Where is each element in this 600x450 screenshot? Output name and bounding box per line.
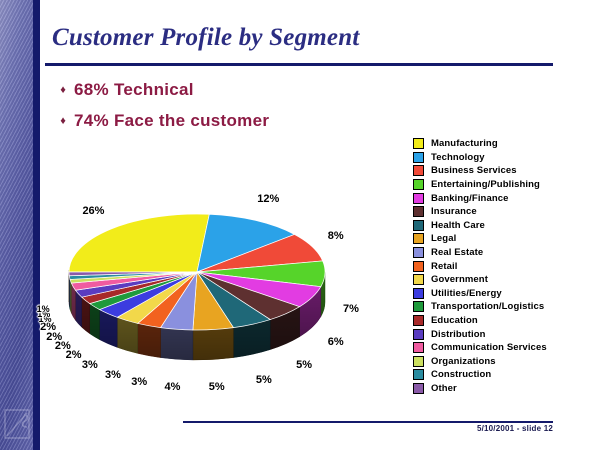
pie-slice-label: 6% [328, 336, 344, 348]
slide-left-decoration-band [0, 0, 33, 450]
bullet-item: ♦ 74% Face the customer [52, 109, 382, 133]
legend-color-swatch [413, 152, 424, 163]
chart-legend: ManufacturingTechnologyBusiness Services… [413, 137, 598, 395]
legend-item-label: Organizations [431, 356, 496, 367]
legend-color-swatch [413, 315, 424, 326]
legend-color-swatch [413, 369, 424, 380]
legend-item-label: Entertaining/Publishing [431, 179, 540, 190]
legend-item-label: Business Services [431, 165, 517, 176]
pie-slice-label: 3% [82, 359, 98, 371]
legend-item[interactable]: Manufacturing [413, 137, 598, 151]
legend-item-label: Transportation/Logistics [431, 301, 544, 312]
legend-color-swatch [413, 274, 424, 285]
legend-item[interactable]: Health Care [413, 219, 598, 233]
legend-color-swatch [413, 165, 424, 176]
legend-color-swatch [413, 179, 424, 190]
legend-color-swatch [413, 288, 424, 299]
legend-color-swatch [413, 193, 424, 204]
legend-color-swatch [413, 247, 424, 258]
page-title: Customer Profile by Segment [52, 24, 359, 52]
legend-item-label: Retail [431, 261, 457, 272]
legend-item-label: Legal [431, 233, 456, 244]
legend-item[interactable]: Transportation/Logistics [413, 300, 598, 314]
legend-item-label: Communication Services [431, 342, 547, 353]
legend-item[interactable]: Organizations [413, 355, 598, 369]
pie-slice-label: 7% [343, 303, 359, 315]
legend-item-label: Education [431, 315, 478, 326]
legend-item-label: Utilities/Energy [431, 288, 502, 299]
legend-item[interactable]: Legal [413, 232, 598, 246]
pie-slice-label: 3% [105, 369, 121, 381]
legend-item[interactable]: Real Estate [413, 246, 598, 260]
legend-item[interactable]: Banking/Finance [413, 191, 598, 205]
legend-color-swatch [413, 220, 424, 231]
legend-item-label: Other [431, 383, 457, 394]
footer-rule [183, 421, 553, 423]
pie-slice-label: 4% [164, 381, 180, 393]
legend-item[interactable]: Technology [413, 151, 598, 165]
legend-item-label: Insurance [431, 206, 477, 217]
legend-item-label: Government [431, 274, 488, 285]
legend-color-swatch [413, 233, 424, 244]
bullet-list: ♦ 68% Technical ♦ 74% Face the customer [52, 78, 382, 140]
legend-item-label: Construction [431, 369, 491, 380]
pie-slice-label: 3% [131, 376, 147, 388]
legend-item-label: Distribution [431, 329, 486, 340]
legend-item[interactable]: Business Services [413, 164, 598, 178]
pie-slice-label: 5% [209, 381, 225, 393]
legend-item[interactable]: Insurance [413, 205, 598, 219]
legend-color-swatch [413, 329, 424, 340]
pie-slice-label: 5% [256, 374, 272, 386]
pie-slice-label: 26% [82, 205, 104, 217]
footer-text: 5/10/2001 - slide 12 [477, 424, 553, 433]
legend-item[interactable]: Education [413, 314, 598, 328]
pie-chart: 26%12%8%7%6%5%5%5%4%3%3%3%2%2%2%2%1%1%1% [45, 135, 405, 395]
pie-slice[interactable] [69, 214, 209, 272]
legend-item[interactable]: Distribution [413, 327, 598, 341]
legend-item-label: Real Estate [431, 247, 483, 258]
legend-item-label: Banking/Finance [431, 193, 509, 204]
bullet-item: ♦ 68% Technical [52, 78, 382, 102]
company-logo-watermark [2, 402, 32, 446]
legend-item[interactable]: Government [413, 273, 598, 287]
legend-item[interactable]: Utilities/Energy [413, 287, 598, 301]
legend-item-label: Manufacturing [431, 138, 498, 149]
legend-color-swatch [413, 301, 424, 312]
legend-color-swatch [413, 206, 424, 217]
legend-color-swatch [413, 261, 424, 272]
diamond-bullet-icon: ♦ [52, 78, 74, 102]
legend-item[interactable]: Entertaining/Publishing [413, 178, 598, 192]
pie-slice-label: 1% [37, 304, 50, 314]
pie-slice-label: 12% [257, 193, 279, 205]
legend-item-label: Technology [431, 152, 485, 163]
legend-item[interactable]: Construction [413, 368, 598, 382]
legend-item[interactable]: Retail [413, 259, 598, 273]
legend-color-swatch [413, 356, 424, 367]
bullet-item-label: 74% Face the customer [74, 109, 269, 133]
diamond-bullet-icon: ♦ [52, 109, 74, 133]
legend-color-swatch [413, 383, 424, 394]
legend-color-swatch [413, 138, 424, 149]
legend-item-label: Health Care [431, 220, 485, 231]
legend-item[interactable]: Other [413, 382, 598, 396]
bullet-item-label: 68% Technical [74, 78, 194, 102]
title-underline [45, 63, 553, 66]
legend-color-swatch [413, 342, 424, 353]
pie-slice-label: 5% [296, 359, 312, 371]
legend-item[interactable]: Communication Services [413, 341, 598, 355]
pie-slice-label: 8% [328, 230, 344, 242]
slide-canvas: Customer Profile by Segment ♦ 68% Techni… [0, 0, 600, 450]
slide-left-vertical-rule [33, 0, 40, 450]
